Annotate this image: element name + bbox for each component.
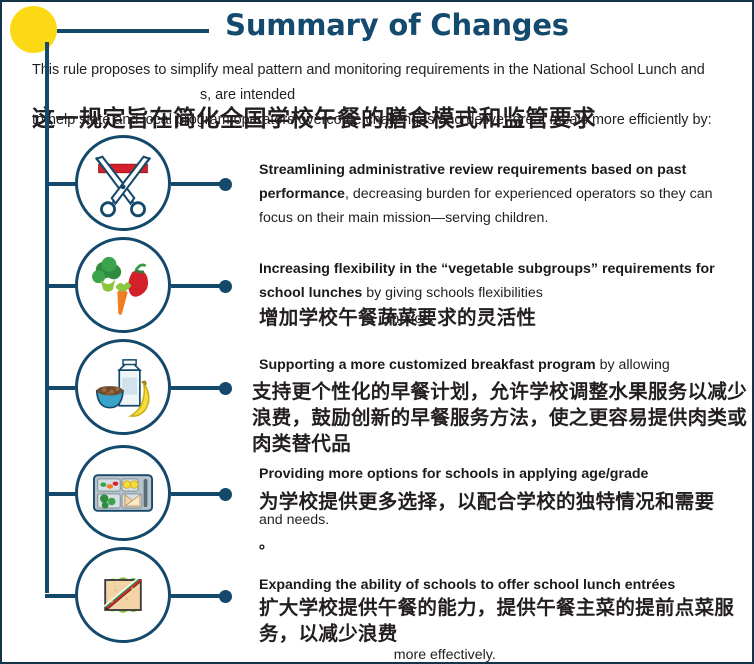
page-title: Summary of Changes (217, 8, 577, 42)
connector-dot (219, 488, 232, 501)
item-text-3: Supporting a more customized breakfast p… (259, 353, 749, 377)
icon-circle-vegetables (75, 237, 171, 333)
header-rule (57, 29, 209, 33)
connector-left (45, 182, 79, 186)
connector-dot (219, 178, 232, 191)
connector-right (171, 594, 223, 598)
item-chinese-2: 增加学校午餐蔬菜要求的灵活性 (259, 305, 754, 331)
item-rest-2: by giving schools flexibilities (362, 285, 543, 301)
item-bold-3: Supporting a more customized breakfast p… (259, 357, 596, 373)
scissors-cutting-ribbon-icon (78, 138, 168, 228)
item-chinese-4: 为学校提供更多选择，以配合学校的独特情况和需要 (259, 489, 754, 515)
icon-circle-breakfast (75, 339, 171, 435)
infographic-page: Summary of Changes This rule proposes to… (0, 0, 754, 664)
list-item: Providing more options for schools in ap… (2, 445, 754, 545)
sandwich-icon (78, 550, 168, 640)
intro-paragraph: This rule proposes to simplify meal patt… (32, 58, 748, 133)
icon-circle-sandwich (75, 547, 171, 643)
item-chinese-5-line1: 扩大学校提供午餐的能力，提供午餐主菜的提前点菜服 (259, 595, 754, 621)
connector-right (171, 386, 223, 390)
connector-dot (219, 590, 232, 603)
item-text-1: Streamlining administrative review requi… (259, 158, 749, 230)
connector-left (45, 284, 79, 288)
list-item: Supporting a more customized breakfast p… (2, 339, 754, 449)
list-item: Expanding the ability of schools to offe… (2, 547, 754, 647)
item-bold-5: Expanding the ability of schools to offe… (259, 577, 675, 593)
connector-dot (219, 382, 232, 395)
connector-right (171, 492, 223, 496)
intro-chinese-overlay: 这一规定旨在简化全国学校午餐的膳食模式和监管要求 (32, 106, 596, 133)
intro-line-1: This rule proposes to simplify meal patt… (32, 58, 748, 83)
connector-dot (219, 280, 232, 293)
connector-left (45, 492, 79, 496)
item-bold-4: Providing more options for schools in ap… (259, 466, 648, 482)
connector-right (171, 182, 223, 186)
connector-left (45, 386, 79, 390)
connector-right (171, 284, 223, 288)
list-item: Streamlining administrative review requi… (2, 135, 754, 235)
accent-dot (10, 6, 57, 53)
breakfast-cereal-milk-banana-icon (78, 342, 168, 432)
item-rest-3: by allowing (596, 357, 670, 373)
item-rest-5: more effectively. (394, 647, 496, 663)
intro-line-2-tail: s, are intended (200, 87, 295, 103)
item-chinese-5-line2: 务，以减少浪费 (259, 621, 754, 647)
icon-circle-scissors (75, 135, 171, 231)
list-item: Increasing flexibility in the “vegetable… (2, 237, 754, 337)
intro-line-2: School Breakfast Programs, are intended … (32, 83, 748, 108)
icon-circle-lunch-tray (75, 445, 171, 541)
connector-left (45, 594, 79, 598)
vegetables-icon (78, 240, 168, 330)
lunch-tray-icon (78, 448, 168, 538)
